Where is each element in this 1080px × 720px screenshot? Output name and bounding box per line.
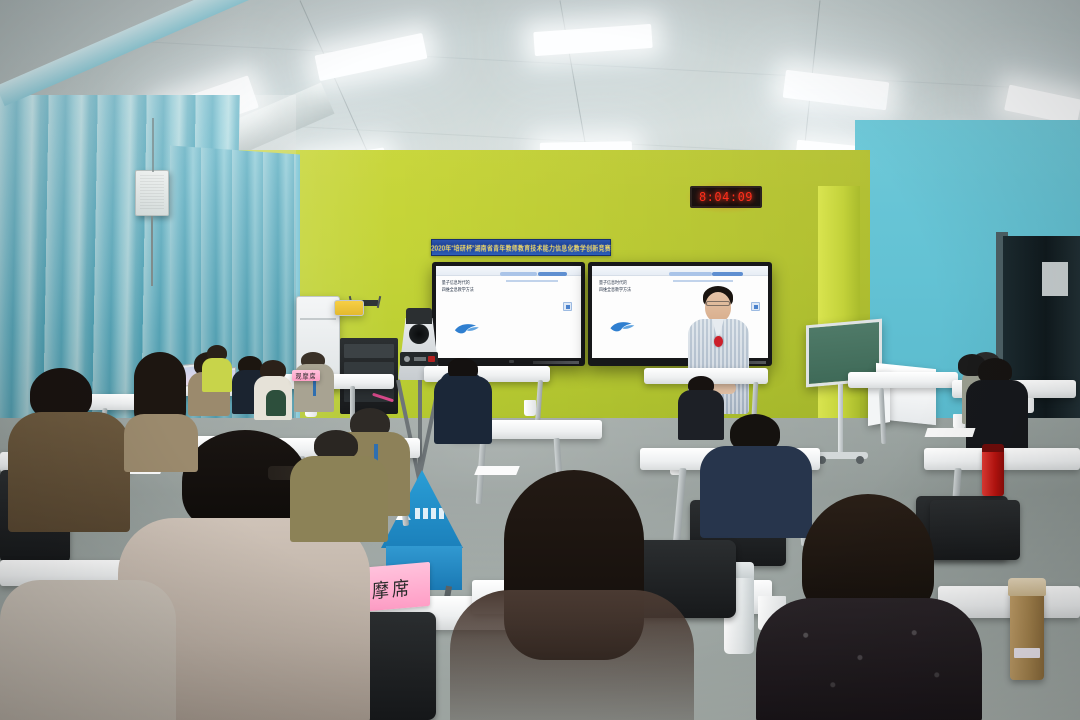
cabinet-label [334,300,364,316]
tumbler-label [1014,648,1040,658]
attendee-top [266,390,286,416]
slide-progress-bar-active [538,272,567,276]
attendee-sleeve [0,580,176,720]
event-banner: 2020年“培研杯”湖南省青年教师教育技术能力信息化教学创新竞赛 [431,239,611,256]
slide-picture-icon [751,302,760,311]
panel-left-ir-receiver [509,360,514,363]
tripod-leg [418,380,422,480]
slide-subtext-line [506,280,558,282]
attendee-jacket [290,456,388,542]
chalkboard-caster [856,456,864,464]
slide-progress-bar [669,272,711,276]
attendee-olive [290,430,386,538]
lace-pattern [756,598,982,720]
slide-subtext-line [673,280,733,282]
blue-bird-swoosh-logo [603,319,642,335]
red-thermos-can [982,448,1004,496]
attendee [204,345,230,391]
red-thermos-lid [982,444,1004,452]
attendee-jacket [124,414,198,472]
presenter-head [705,292,731,322]
clock-time-text: 8:04:09 [699,190,753,204]
slide-heading-left: 量子信息时代的 四维全息教学方法 [442,279,474,293]
presenter-glasses-icon [706,301,730,306]
attendee-hi-vis-vest [202,358,232,392]
presenter-badge [714,336,723,347]
attendee-foreground-far-left [0,560,170,720]
attendee [434,358,490,442]
recording-camera-top [406,308,432,324]
led-countdown-clock: 8:04:09 [690,186,762,208]
camera-lens-icon [409,324,429,344]
panel-left-brand-strip [533,361,579,364]
speaker-cable [152,118,154,172]
slide-heading-right: 量子信息时代的 四维全息教学方法 [599,279,631,293]
blue-bird-swoosh-logo [448,321,486,337]
slide-picture-icon [563,302,572,311]
event-banner-text: 2020年“培研杯”湖南省青年教师教育技术能力信息化教学创新竞赛 [431,242,611,252]
desk-name-card: 观摩席 [292,370,320,381]
slide-progress-bar [500,272,538,276]
attendee-jacket [434,376,492,444]
rack-module [344,344,394,358]
desk-name-card-text: 观摩席 [295,370,316,380]
wall-notice [1042,262,1068,296]
attendee-foreground-center [450,470,690,720]
bamboo-tumbler [1010,588,1044,680]
attendee [256,360,290,418]
chalkboard-pole [838,384,843,456]
attendee-foreground-right [756,494,980,720]
camera-dial-icon[interactable] [404,356,410,362]
cabinet-seam [300,318,336,320]
tumbler-lid [1008,578,1046,596]
desk [848,372,958,388]
speaker-cable [151,216,153,286]
attendee-back-left [124,352,196,470]
slide-progress-bar-active [712,272,744,276]
attendee [294,352,332,412]
paper-cup [524,400,536,416]
tripod-brand-text [415,508,445,519]
paper-sheet [925,428,976,437]
wall-speaker [135,170,169,216]
panel-left-screen[interactable]: 量子信息时代的 四维全息教学方法 [436,266,581,358]
classroom-photo: 2020年“培研杯”湖南省青年教师教育技术能力信息化教学创新竞赛 8:04:09… [0,0,1080,720]
camera-label [414,357,426,361]
attendee-jacket [450,590,694,720]
attendee-jacket [8,412,130,532]
interactive-panel-left[interactable]: 量子信息时代的 四维全息教学方法 [432,262,585,366]
attendee-left [8,368,128,528]
